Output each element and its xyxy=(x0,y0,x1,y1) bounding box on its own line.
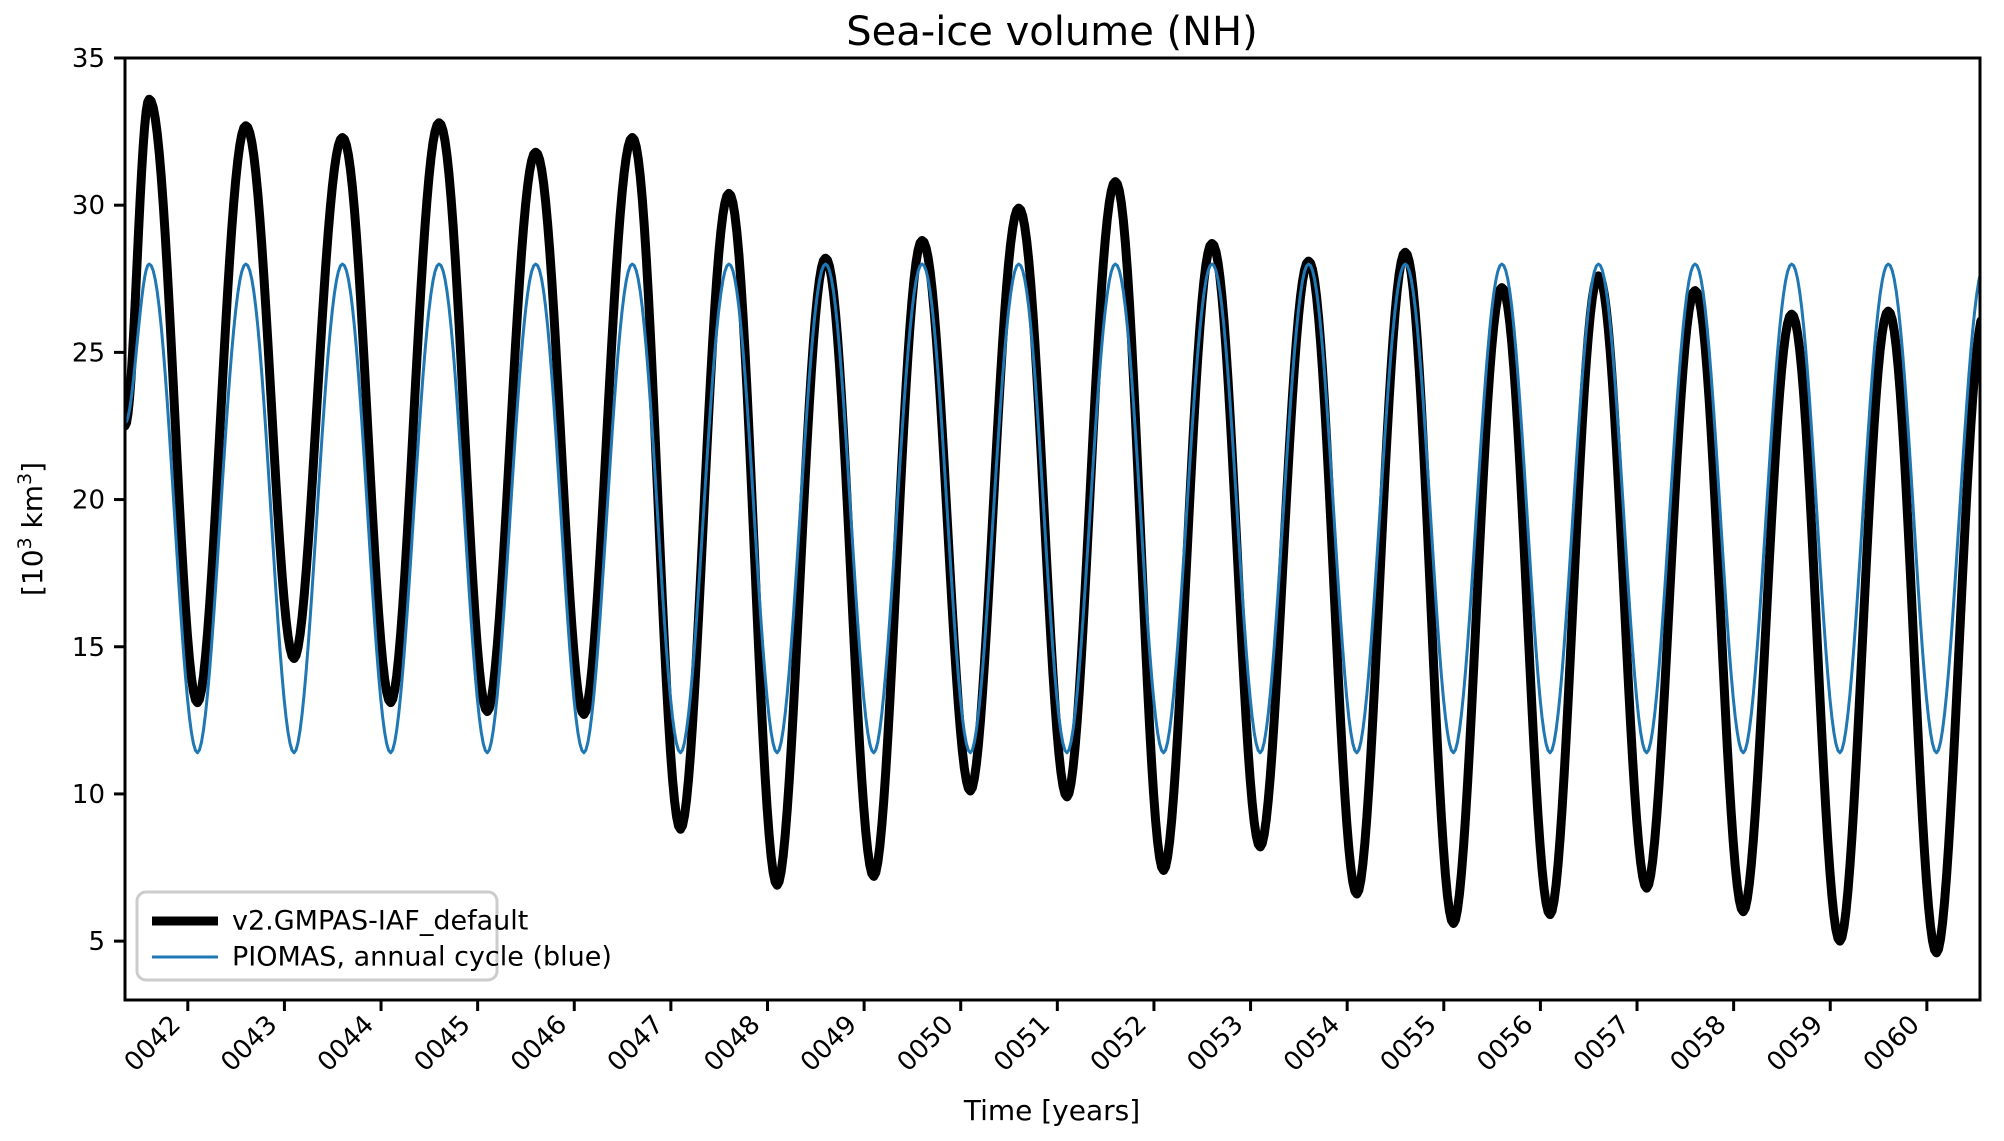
sea-ice-volume-chart: Sea-ice volume (NH) 3530252015105 004200… xyxy=(0,0,2004,1141)
y-tick-label: 35 xyxy=(72,44,105,74)
y-tick-label: 15 xyxy=(72,633,105,663)
chart-title: Sea-ice volume (NH) xyxy=(846,9,1257,55)
y-axis-label-close: ] xyxy=(16,462,49,473)
legend-label-model: v2.GMPAS-IAF_default xyxy=(232,906,528,937)
y-axis-label-exp2: 3 xyxy=(14,473,36,485)
y-tick-label: 5 xyxy=(88,927,105,957)
y-tick-label: 30 xyxy=(72,191,105,221)
y-tick-label: 10 xyxy=(72,780,105,810)
y-axis-label-prefix: [10 xyxy=(16,549,49,596)
y-axis-label-mid: km xyxy=(16,485,49,537)
legend-label-piomas: PIOMAS, annual cycle (blue) xyxy=(232,942,612,973)
y-tick-label: 20 xyxy=(72,486,105,516)
x-axis-label: Time [years] xyxy=(963,1094,1140,1127)
figure-canvas: Sea-ice volume (NH) 3530252015105 004200… xyxy=(0,0,2004,1141)
y-tick-label: 25 xyxy=(72,338,105,368)
y-axis-label-exp1: 3 xyxy=(14,537,36,549)
